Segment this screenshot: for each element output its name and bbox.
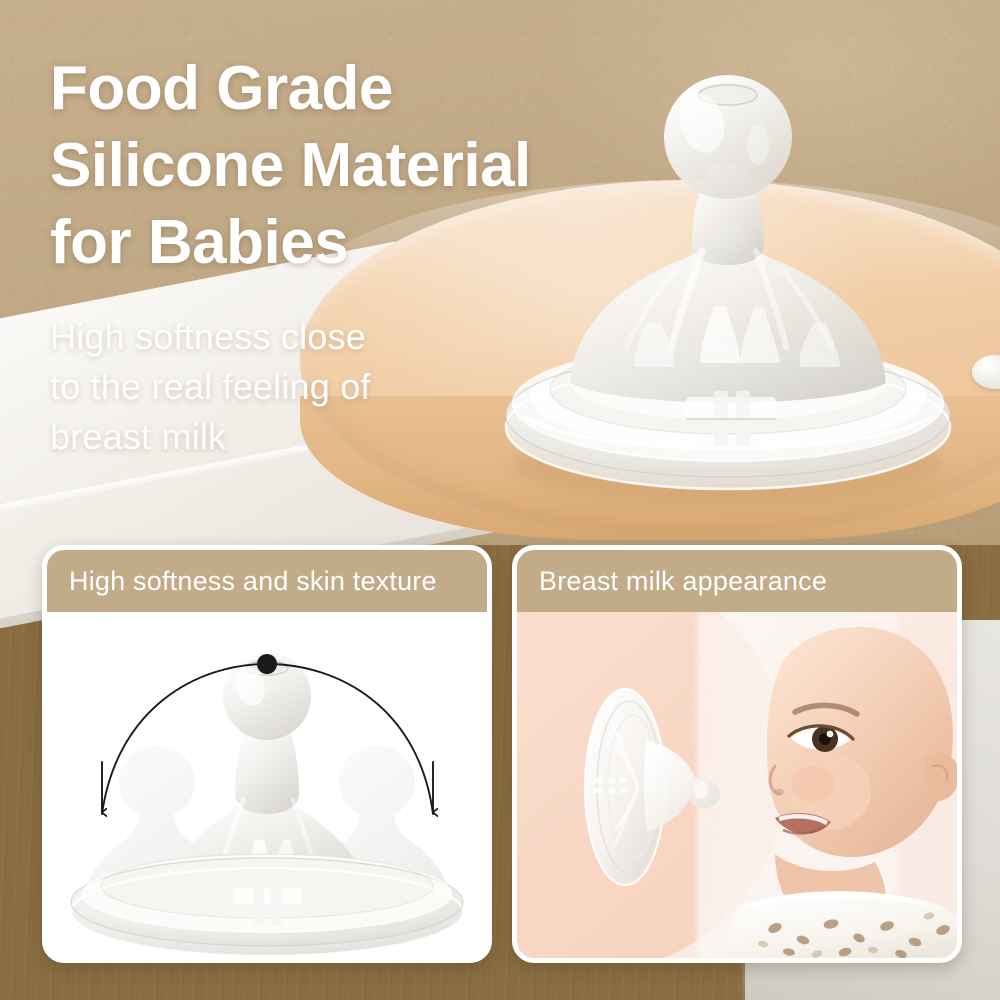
feature-card-high-softness: High softness and skin texture [42, 545, 492, 963]
feature-card-breast-milk-appearance: Breast milk appearance [512, 545, 962, 963]
card-header-breast-milk-appearance: Breast milk appearance [517, 550, 957, 612]
headline-line-2: Silicone Material [50, 127, 650, 204]
flex-pivot-dot [257, 654, 277, 674]
card-body-high-softness [47, 612, 487, 958]
headline-line-3: for Babies [50, 204, 650, 281]
baby-photo [679, 612, 957, 958]
nipple-flex-diagram [47, 612, 487, 958]
product-infographic: Food Grade Silicone Material for Babies … [0, 0, 1000, 1000]
subheadline: High softness close to the real feeling … [50, 312, 490, 462]
card-body-breast-milk-appearance [517, 612, 957, 958]
headline-line-1: Food Grade [50, 50, 650, 127]
headline: Food Grade Silicone Material for Babies [50, 50, 650, 281]
card-title-breast-milk-appearance: Breast milk appearance [539, 566, 827, 597]
subheadline-line-2: to the real feeling of [50, 362, 490, 412]
card-title-high-softness: High softness and skin texture [69, 566, 437, 597]
subheadline-line-1: High softness close [50, 312, 490, 362]
subheadline-line-3: breast milk [50, 412, 490, 462]
card-header-high-softness: High softness and skin texture [47, 550, 487, 612]
